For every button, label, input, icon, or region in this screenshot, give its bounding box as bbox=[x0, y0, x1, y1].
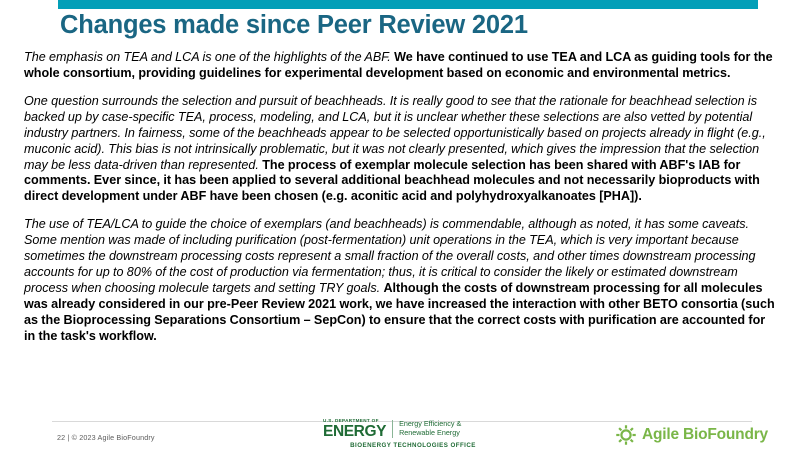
title-accent-bar bbox=[58, 0, 758, 9]
doe-tagline-group: Energy Efficiency & Renewable Energy bbox=[393, 419, 461, 439]
doe-tagline-line-2: Renewable Energy bbox=[399, 429, 461, 438]
doe-logo-row: U.S. DEPARTMENT OF ENERGY Energy Efficie… bbox=[323, 419, 503, 439]
doe-logo: U.S. DEPARTMENT OF ENERGY Energy Efficie… bbox=[323, 419, 503, 449]
slide-body: The emphasis on TEA and LCA is one of th… bbox=[24, 50, 779, 345]
paragraph-3: The use of TEA/LCA to guide the choice o… bbox=[24, 217, 779, 344]
page-title: Changes made since Peer Review 2021 bbox=[60, 11, 528, 39]
doe-wordmark-group: U.S. DEPARTMENT OF ENERGY bbox=[323, 419, 392, 439]
doe-energy-wordmark: ENERGY bbox=[323, 425, 386, 440]
paragraph-1: The emphasis on TEA and LCA is one of th… bbox=[24, 50, 779, 82]
agile-biofoundry-wordmark: Agile BioFoundry bbox=[642, 427, 768, 443]
doe-office-label: BIOENERGY TECHNOLOGIES OFFICE bbox=[323, 442, 503, 449]
footer-credit: 22 | © 2023 Agile BioFoundry bbox=[57, 433, 155, 442]
agile-biofoundry-logo: Agile BioFoundry bbox=[615, 424, 768, 446]
gear-sun-icon bbox=[615, 424, 637, 446]
paragraph-1-italic: The emphasis on TEA and LCA is one of th… bbox=[24, 50, 391, 64]
slide-canvas: Changes made since Peer Review 2021 The … bbox=[0, 0, 800, 450]
paragraph-2: One question surrounds the selection and… bbox=[24, 94, 779, 205]
